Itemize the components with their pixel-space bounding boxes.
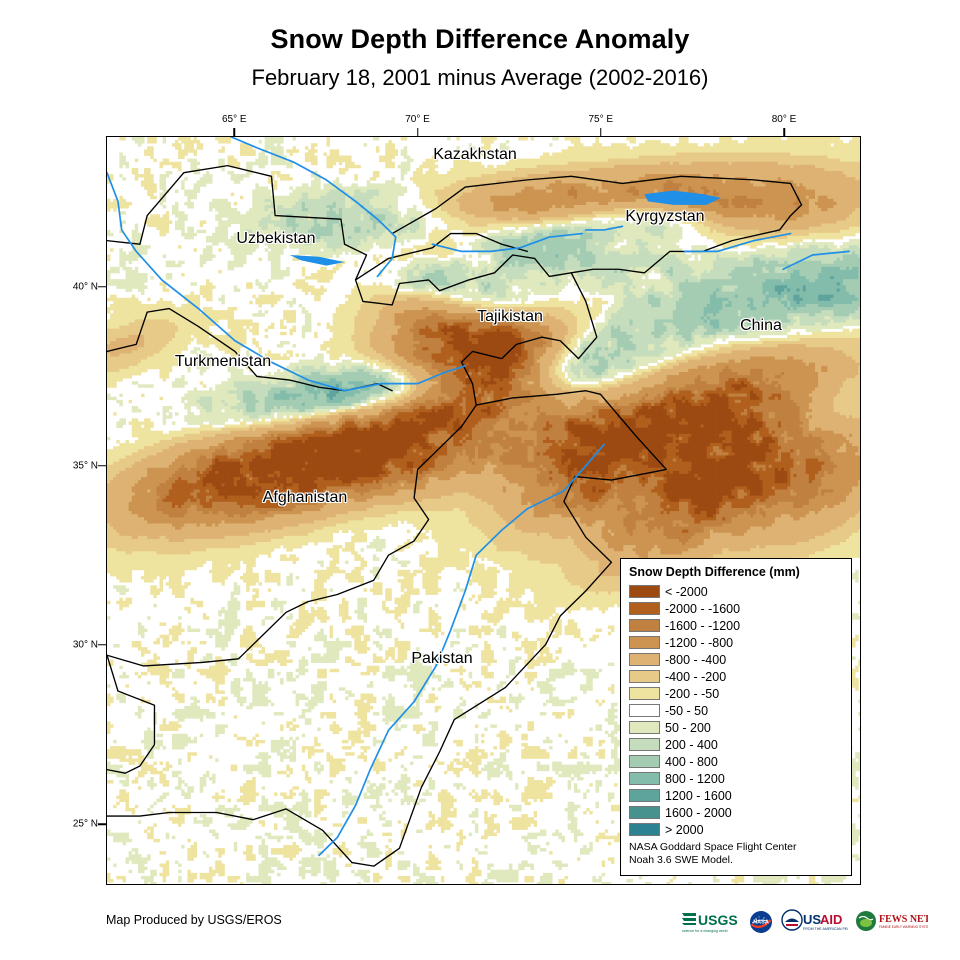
legend-item: 400 - 800 xyxy=(627,753,845,770)
legend-label: -400 - -200 xyxy=(665,670,726,684)
legend-item: 1600 - 2000 xyxy=(627,804,845,821)
usaid-logo: US AID FROM THE AMERICAN PEOPLE xyxy=(780,909,848,935)
legend-item: -1600 - -1200 xyxy=(627,617,845,634)
legend-source-line-2: Noah 3.6 SWE Model. xyxy=(629,854,845,867)
legend-label: 50 - 200 xyxy=(665,721,711,735)
legend-swatch xyxy=(629,738,660,751)
legend-item: -400 - -200 xyxy=(627,668,845,685)
lat-tick-mark-1 xyxy=(98,465,106,467)
lat-tick-mark-0 xyxy=(98,286,106,288)
usgs-logo: USGS science for a changing world xyxy=(680,909,742,935)
page-title: Snow Depth Difference Anomaly xyxy=(0,24,960,55)
legend-label: 800 - 1200 xyxy=(665,772,725,786)
legend-label: -200 - -50 xyxy=(665,687,719,701)
legend-swatch xyxy=(629,653,660,666)
legend: Snow Depth Difference (mm) < -2000-2000 … xyxy=(620,558,852,876)
legend-swatch xyxy=(629,602,660,615)
legend-item: -1200 - -800 xyxy=(627,634,845,651)
legend-item: -800 - -400 xyxy=(627,651,845,668)
lon-tick-label-2: 75° E xyxy=(588,114,613,125)
legend-item: < -2000 xyxy=(627,583,845,600)
fewsnet-logo: FEWS NET FAMINE EARLY WARNING SYSTEMS NE… xyxy=(854,909,928,935)
legend-swatch xyxy=(629,789,660,802)
lat-tick-label-2: 30° N xyxy=(54,639,98,650)
legend-label: 400 - 800 xyxy=(665,755,718,769)
footer-logo-strip: USGS science for a changing world NASA U… xyxy=(680,908,928,936)
legend-title: Snow Depth Difference (mm) xyxy=(629,565,845,579)
lon-tick-label-0: 65° E xyxy=(222,114,247,125)
legend-item: 50 - 200 xyxy=(627,719,845,736)
legend-item: -50 - 50 xyxy=(627,702,845,719)
legend-label: -1200 - -800 xyxy=(665,636,733,650)
lat-tick-mark-3 xyxy=(98,823,106,825)
lat-tick-label-0: 40° N xyxy=(54,281,98,292)
lon-tick-mark-2 xyxy=(600,128,602,136)
footer-credit: Map Produced by USGS/EROS xyxy=(106,913,282,927)
legend-item: 800 - 1200 xyxy=(627,770,845,787)
legend-swatch xyxy=(629,585,660,598)
lat-tick-label-3: 25° N xyxy=(54,819,98,830)
legend-item: 1200 - 1600 xyxy=(627,787,845,804)
lon-tick-mark-1 xyxy=(417,128,419,136)
legend-swatch xyxy=(629,687,660,700)
legend-source-note: NASA Goddard Space Flight Center Noah 3.… xyxy=(629,841,845,867)
legend-label: 1600 - 2000 xyxy=(665,806,732,820)
lat-tick-mark-2 xyxy=(98,644,106,646)
legend-label: > 2000 xyxy=(665,823,704,837)
legend-swatch xyxy=(629,772,660,785)
lon-tick-label-3: 80° E xyxy=(772,114,797,125)
legend-items: < -2000-2000 - -1600-1600 - -1200-1200 -… xyxy=(627,583,845,838)
legend-label: -800 - -400 xyxy=(665,653,726,667)
legend-swatch xyxy=(629,619,660,632)
legend-swatch xyxy=(629,823,660,836)
legend-swatch xyxy=(629,721,660,734)
legend-source-line-1: NASA Goddard Space Flight Center xyxy=(629,841,845,854)
legend-label: -2000 - -1600 xyxy=(665,602,740,616)
legend-swatch xyxy=(629,670,660,683)
legend-label: 200 - 400 xyxy=(665,738,718,752)
nasa-logo: NASA xyxy=(748,909,774,935)
legend-swatch xyxy=(629,806,660,819)
legend-item: > 2000 xyxy=(627,821,845,838)
title-block: Snow Depth Difference Anomaly February 1… xyxy=(0,24,960,90)
legend-label: 1200 - 1600 xyxy=(665,789,732,803)
lon-tick-label-1: 70° E xyxy=(405,114,430,125)
legend-item: -2000 - -1600 xyxy=(627,600,845,617)
lon-tick-mark-3 xyxy=(783,128,785,136)
page-subtitle: February 18, 2001 minus Average (2002-20… xyxy=(0,65,960,90)
legend-item: -200 - -50 xyxy=(627,685,845,702)
legend-swatch xyxy=(629,755,660,768)
legend-label: -1600 - -1200 xyxy=(665,619,740,633)
legend-item: 200 - 400 xyxy=(627,736,845,753)
legend-label: < -2000 xyxy=(665,585,708,599)
lon-tick-mark-0 xyxy=(234,128,236,136)
legend-label: -50 - 50 xyxy=(665,704,708,718)
lat-tick-label-1: 35° N xyxy=(54,460,98,471)
legend-swatch xyxy=(629,704,660,717)
legend-swatch xyxy=(629,636,660,649)
